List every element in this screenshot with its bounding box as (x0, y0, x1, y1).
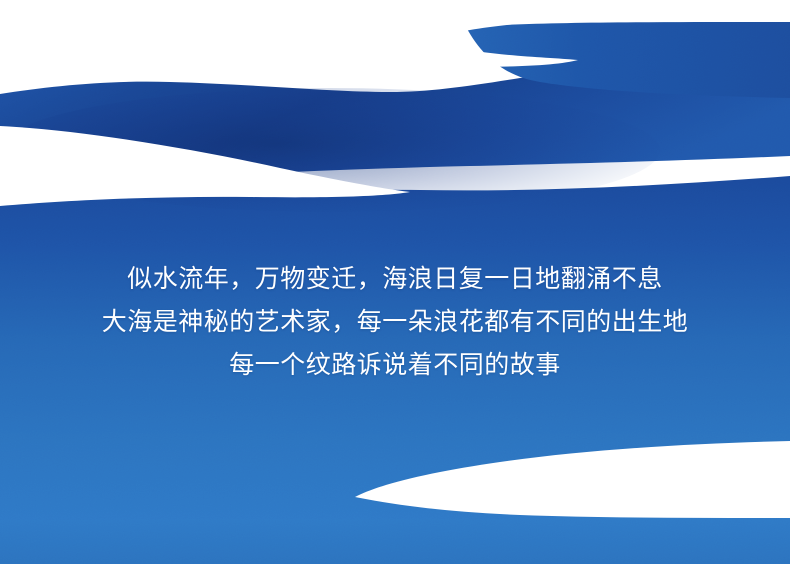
caption-block: 似水流年，万物变迁，海浪日复一日地翻涌不息 大海是神秘的艺术家，每一朵浪花都有不… (0, 258, 790, 387)
caption-line-3: 每一个纹路诉说着不同的故事 (0, 344, 790, 387)
blue-footer-band (0, 518, 790, 564)
caption-line-2: 大海是神秘的艺术家，每一朵浪花都有不同的出生地 (0, 301, 790, 344)
wave-poster: 似水流年，万物变迁，海浪日复一日地翻涌不息 大海是神秘的艺术家，每一朵浪花都有不… (0, 0, 790, 564)
caption-line-1: 似水流年，万物变迁，海浪日复一日地翻涌不息 (0, 258, 790, 301)
